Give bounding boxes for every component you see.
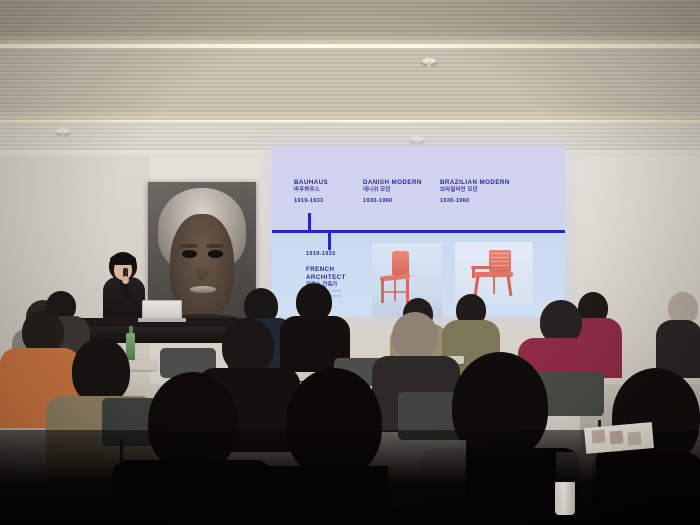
armchair-leg [474,276,479,296]
ceiling-slats-upper [0,0,700,46]
french-architect-years: 1919-1933 [306,251,346,258]
presenter-hand [122,276,129,284]
handout-image [609,430,623,444]
era-brazilian-modern: BRAZILIAN MODERN 브라질리언 모던 1930-1960 [440,179,510,204]
laptop-base [138,318,186,322]
armchair-leg [493,276,495,294]
table-microphone [104,312,124,319]
chair-leg [381,279,384,303]
portrait-nose [196,260,209,280]
sprinkler-icon [56,128,70,134]
handout-image [627,431,641,445]
era-bauhaus-years: 1919-1933 [294,198,328,205]
audience-head [222,318,274,374]
era-bauhaus-title-ko: 바우하우스 [294,187,328,194]
chair-leg [406,279,409,303]
armchair-leg [507,276,512,296]
portrait-eyebrow-left [180,244,198,248]
era-bauhaus: BAUHAUS 바우하우스 1919-1933 [294,179,328,204]
audience-head [72,338,130,404]
sprinkler-icon [422,58,436,64]
french-architect-line1: FRENCH [306,266,346,274]
portrait-eye-right [208,250,223,258]
armchair-webbing [491,253,509,269]
era-brazilian-title-ko: 브라질리언 모던 [440,187,510,194]
portrait-mouth [190,286,216,293]
era-danish-title-ko: 데니쉬 모던 [363,187,422,194]
chair-backrest [392,251,409,275]
era-danish-title: DANISH MODERN [363,179,422,187]
timeline-axis [272,230,565,233]
ceiling-slats-middle [0,48,700,120]
era-bauhaus-title: BAUHAUS [294,179,328,187]
handout-image [591,429,605,443]
portrait-eyebrow-right [206,244,224,248]
portrait-eye-left [182,250,197,258]
lecture-hall-photo: BAUHAUS 바우하우스 1919-1933 DANISH MODERN 데니… [0,0,700,525]
timeline-tick-up [308,213,311,231]
paper-cup [555,482,575,515]
timeline-tick-down [328,232,331,250]
audience-head [392,312,438,360]
era-brazilian-years: 1930-1960 [440,198,510,205]
sprinkler-icon [410,136,424,142]
era-danish-modern: DANISH MODERN 데니쉬 모던 1930-1960 [363,179,422,204]
era-brazilian-title: BRAZILIAN MODERN [440,179,510,187]
armchair-arm-support [472,268,475,278]
era-danish-years: 1930-1960 [363,198,422,205]
presenter-bangs [110,254,136,265]
laptop-screen [142,300,182,320]
chair-leg [394,279,396,301]
